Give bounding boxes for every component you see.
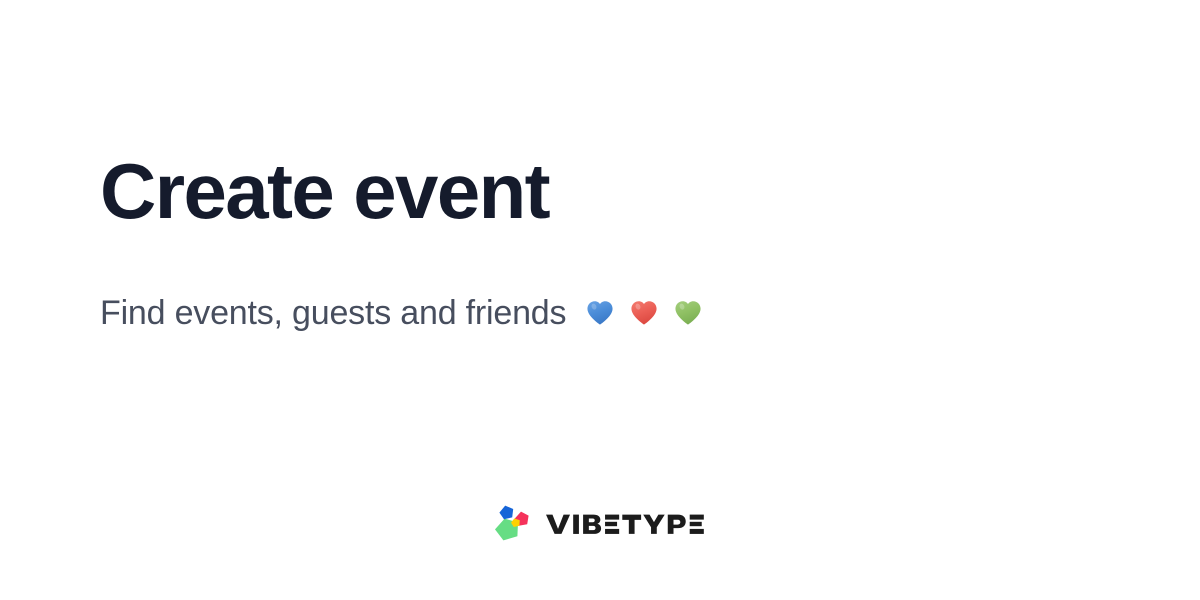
brand-lockup: VIBETYPE (0, 503, 1200, 545)
headline-block: Create event Find events, guests and fri… (100, 152, 1040, 335)
brand-name: VIBETYPE (546, 535, 547, 536)
page-subtitle-text: Find events, guests and friends (100, 292, 566, 335)
page-subtitle: Find events, guests and friends (100, 230, 1040, 335)
blue-heart-emoji: 💙 (585, 298, 615, 328)
page-title: Create event (100, 152, 1040, 230)
vibetype-wordmark: VIBETYPE (546, 513, 708, 535)
share-card: Create event Find events, guests and fri… (0, 0, 1200, 600)
vibetype-logo-icon (492, 503, 532, 545)
green-heart-emoji: 💚 (673, 298, 703, 328)
red-heart-emoji: ❤️ (629, 298, 659, 328)
heart-emoji-row: 💙 ❤️ (585, 298, 703, 328)
